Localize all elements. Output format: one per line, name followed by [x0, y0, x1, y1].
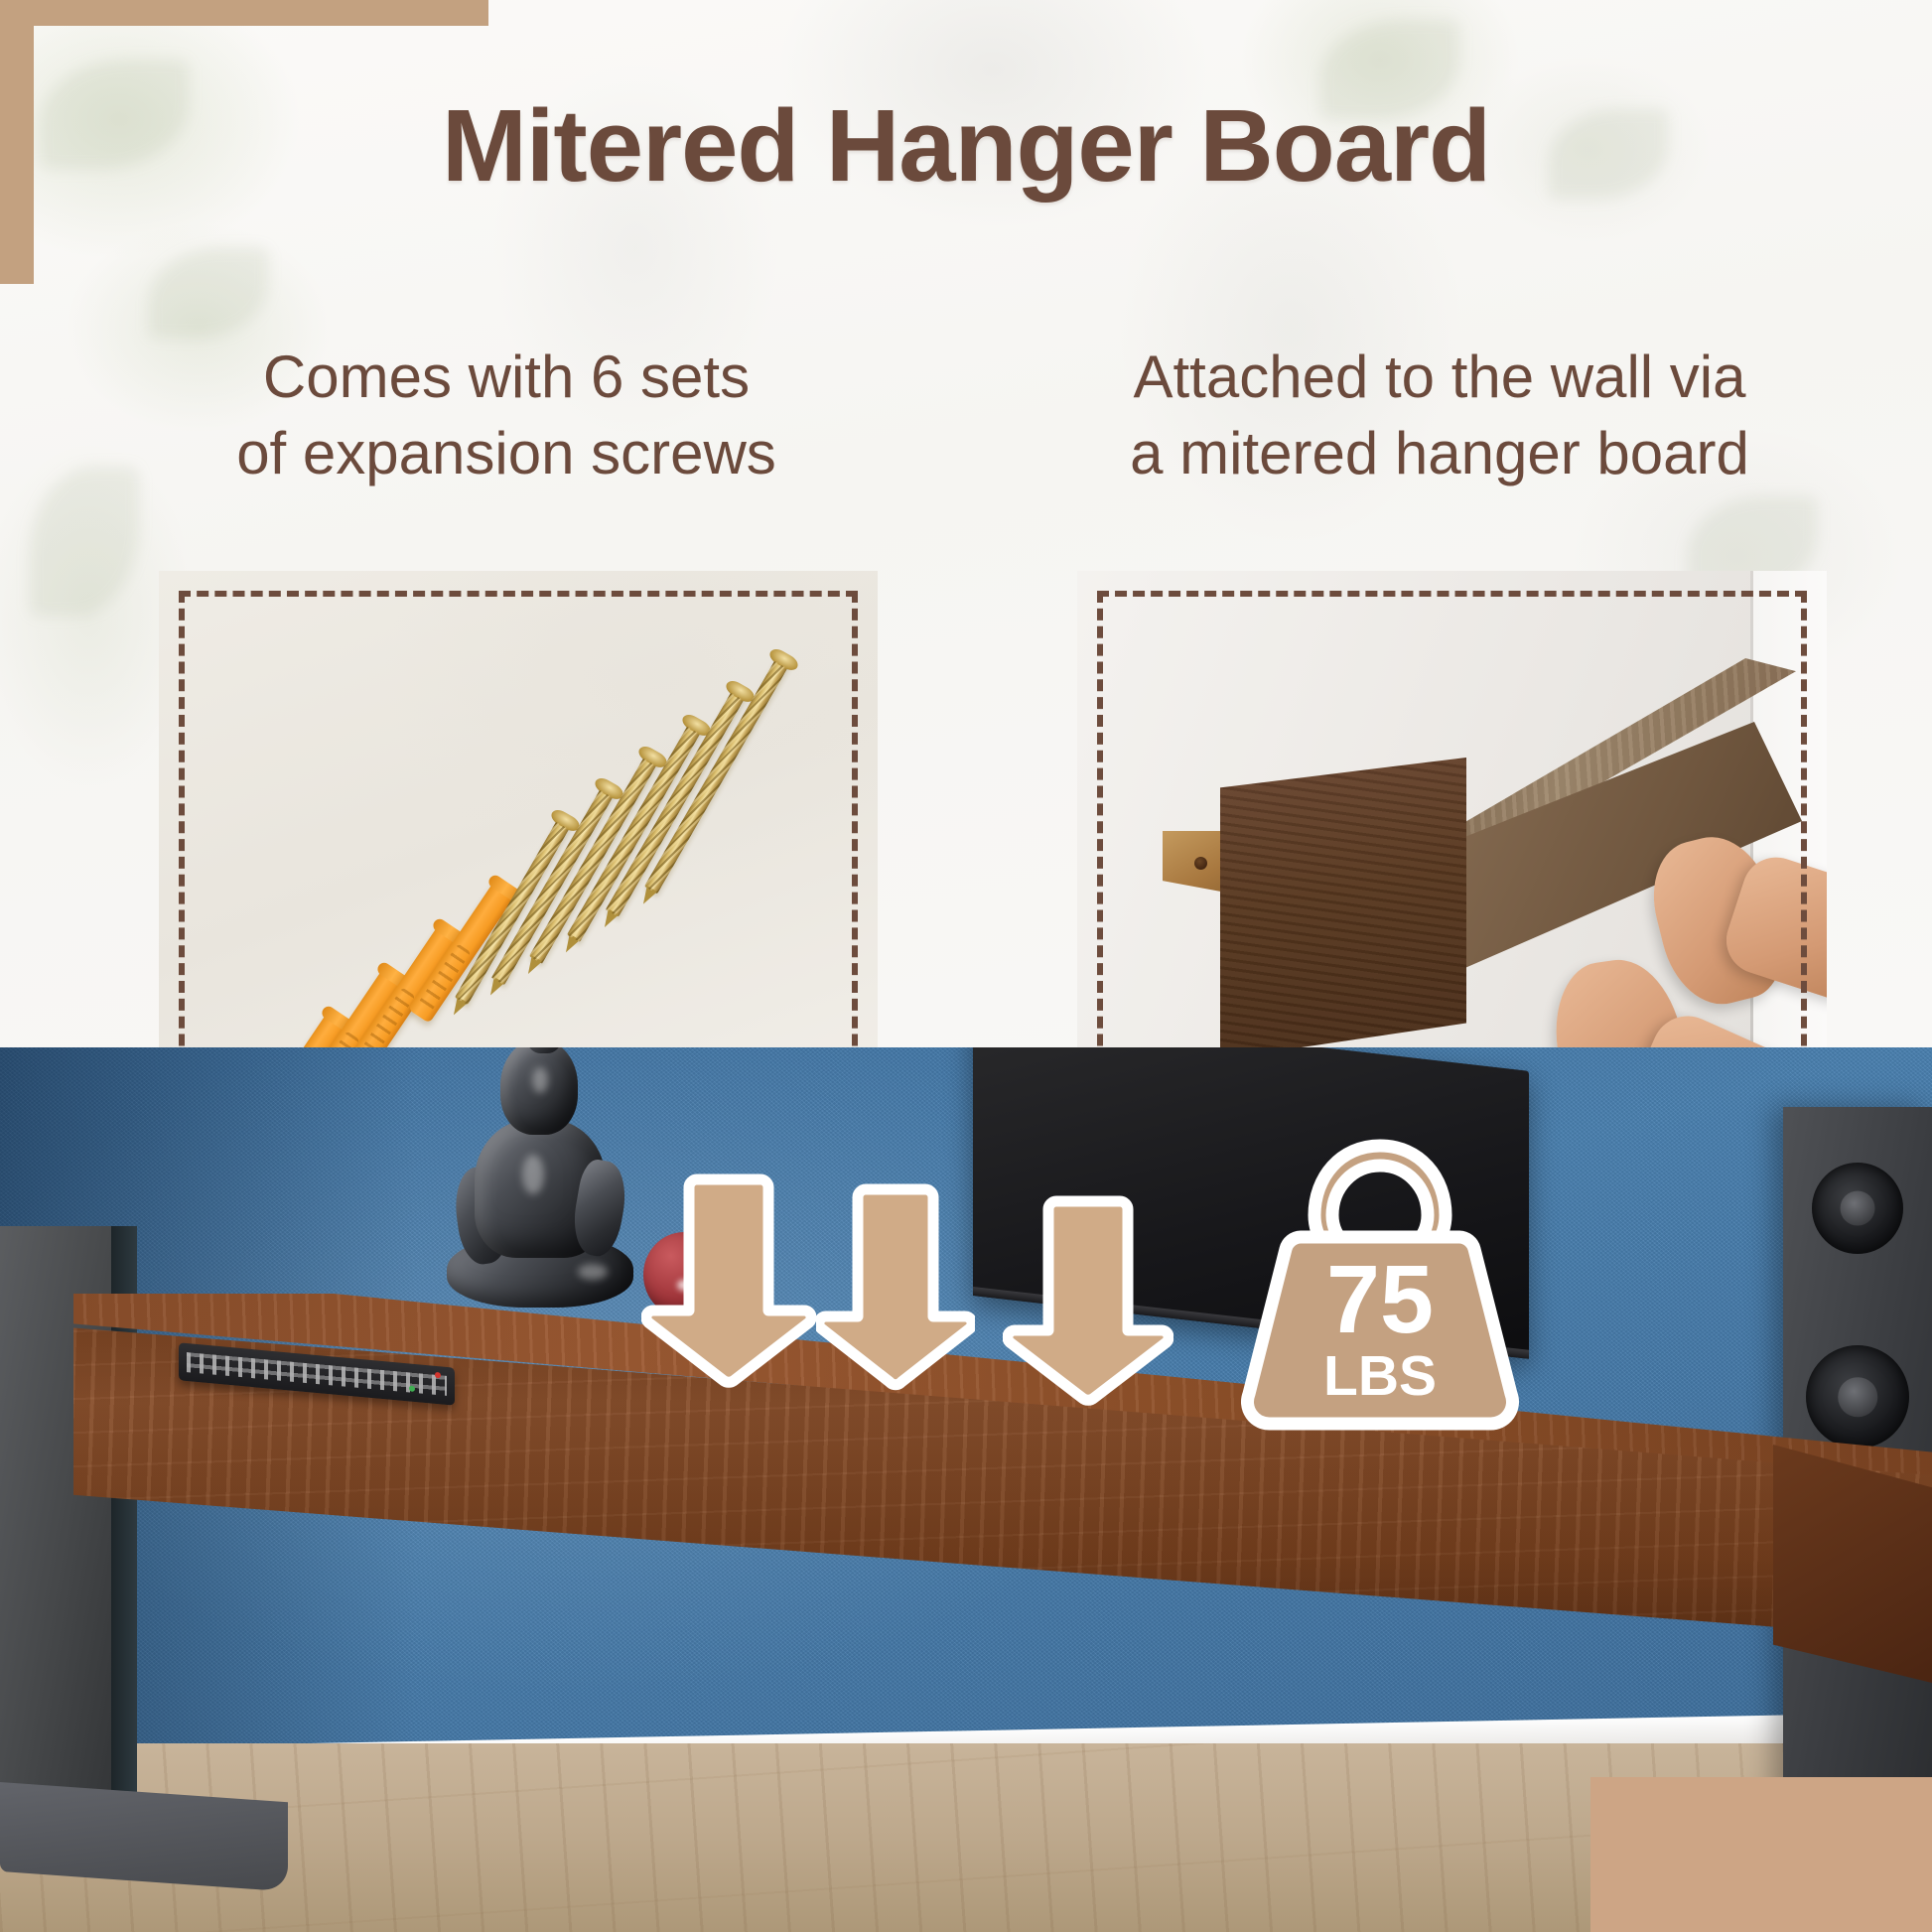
- hanger-board-install-photo: [1077, 571, 1827, 1095]
- hanger-board-photo-frame: [1077, 571, 1827, 1095]
- down-arrow-3: [1003, 1193, 1173, 1408]
- remote-status-led: [409, 1385, 415, 1392]
- speaker-driver-mid: [1806, 1345, 1909, 1449]
- white-paper-background: [159, 571, 878, 1095]
- page-title: Mitered Hanger Board: [0, 87, 1932, 205]
- weight-capacity-badge: 75 LBS: [1231, 1134, 1529, 1442]
- speaker-driver-top: [1812, 1163, 1903, 1254]
- corner-decoration-top: [0, 0, 488, 26]
- down-arrow-2: [816, 1181, 975, 1392]
- shelf-beam-end-grain: [1220, 758, 1466, 1059]
- infographic-root: Mitered Hanger Board Comes with 6 sets o…: [0, 0, 1932, 1932]
- corner-decoration-bottom-right: [1590, 1777, 1932, 1932]
- buddha-statue: [429, 1047, 637, 1315]
- feature-heading-screws: Comes with 6 sets of expansion screws: [129, 340, 884, 492]
- cleat-screw-hole: [1194, 857, 1207, 870]
- weight-value: 75: [1231, 1251, 1529, 1347]
- weight-unit: LBS: [1231, 1348, 1529, 1405]
- expansion-screws-photo: [159, 571, 878, 1095]
- expansion-screws-photo-frame: [159, 571, 878, 1095]
- remote-power-led: [435, 1372, 441, 1379]
- down-arrow-1: [641, 1172, 816, 1390]
- feature-heading-hangerboard: Attached to the wall via a mitered hange…: [1013, 340, 1866, 492]
